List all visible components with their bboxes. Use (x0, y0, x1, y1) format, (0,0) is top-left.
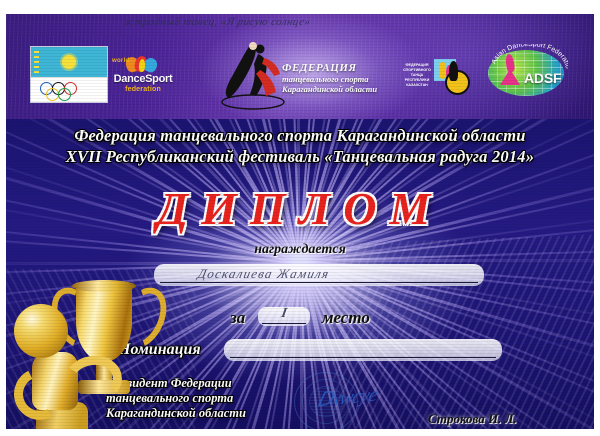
federation-logo-line1: ФЕДЕРАЦИЯ (282, 62, 377, 74)
title-line-2: XVII Республиканский фестиваль «Танцевал… (6, 146, 594, 168)
flag-ornament (34, 51, 39, 73)
svg-text:Asian DanceSport Federation: Asian DanceSport Federation (492, 44, 568, 69)
recipient-name-rule (160, 282, 478, 283)
page-margin-bottom (0, 429, 600, 436)
noc-kazakhstan-logo (30, 46, 108, 103)
trophy-rim (72, 280, 136, 292)
olympic-rings-icon (31, 78, 107, 102)
wdsf-world-label: world (112, 58, 130, 64)
nomination-rule (230, 357, 496, 358)
diploma-page: world DanceSport federation ФЕДЕРАЦИЯ та… (0, 0, 600, 436)
page-title: ДИПЛОМ (6, 182, 594, 235)
flag-sun-icon (62, 55, 76, 69)
place-suffix-label: место (322, 308, 370, 327)
place-field[interactable]: I (258, 307, 310, 326)
federation-logo-line2: танцевального спорта (282, 74, 377, 84)
signer-name: Строкова И. Л. (428, 411, 517, 427)
trophy-cup (76, 284, 132, 362)
kazakhstan-sportdance-label: ФЕДЕРАЦИЯ СПОРТИВНОГО ТАНЦА РЕСПУБЛИКИ К… (402, 63, 432, 88)
golden-figure-head (14, 304, 68, 358)
kazakhstan-sportdance-icon (434, 59, 468, 91)
kazakhstan-flag-icon (31, 47, 107, 78)
wdsf-sub-label: federation (110, 86, 176, 93)
federation-logo-line3: Карагандинской области (282, 84, 377, 94)
place-rule (262, 323, 306, 324)
awarded-to-label: награждается (6, 242, 594, 258)
dancing-couple-icon (220, 40, 286, 110)
wdsf-main-label: DanceSport (110, 73, 176, 85)
page-margin-left (0, 0, 6, 436)
certificate-plate: world DanceSport federation ФЕДЕРАЦИЯ та… (6, 14, 594, 429)
karaganda-federation-logo: ФЕДЕРАЦИЯ танцевального спорта Караганди… (220, 40, 410, 112)
recipient-name-handwriting: Доскалиева Жамиля (196, 266, 331, 282)
title-line-1: Федерация танцевального спорта Караганди… (6, 126, 594, 146)
adsf-logo: Asian DanceSport Federation ADSF (476, 40, 574, 102)
nomination-value-handwriting: эстрадный танец, «Я рисую солнце» (123, 16, 312, 28)
place-value-handwriting: I (256, 306, 311, 322)
federation-logo-text: ФЕДЕРАЦИЯ танцевального спорта Караганди… (282, 62, 377, 94)
nomination-row: Номинация (118, 339, 518, 363)
page-margin-right (594, 0, 600, 436)
nomination-field[interactable] (224, 339, 502, 361)
festival-titles: Федерация танцевального спорта Караганди… (6, 126, 594, 168)
kazakhstan-sportdance-logo: ФЕДЕРАЦИЯ СПОРТИВНОГО ТАНЦА РЕСПУБЛИКИ К… (402, 58, 468, 92)
adsf-arc-label: Asian DanceSport Federation (492, 44, 568, 69)
page-margin-top (0, 0, 600, 14)
wdsf-logo: world DanceSport federation (110, 56, 176, 98)
trophy-illustration (6, 282, 152, 429)
place-prefix-label: за (230, 308, 245, 327)
wdsf-dancer-icon: world (110, 56, 176, 73)
adsf-arc-text: Asian DanceSport Federation (492, 44, 568, 72)
adsf-abbr-label: ADSF (524, 70, 561, 86)
